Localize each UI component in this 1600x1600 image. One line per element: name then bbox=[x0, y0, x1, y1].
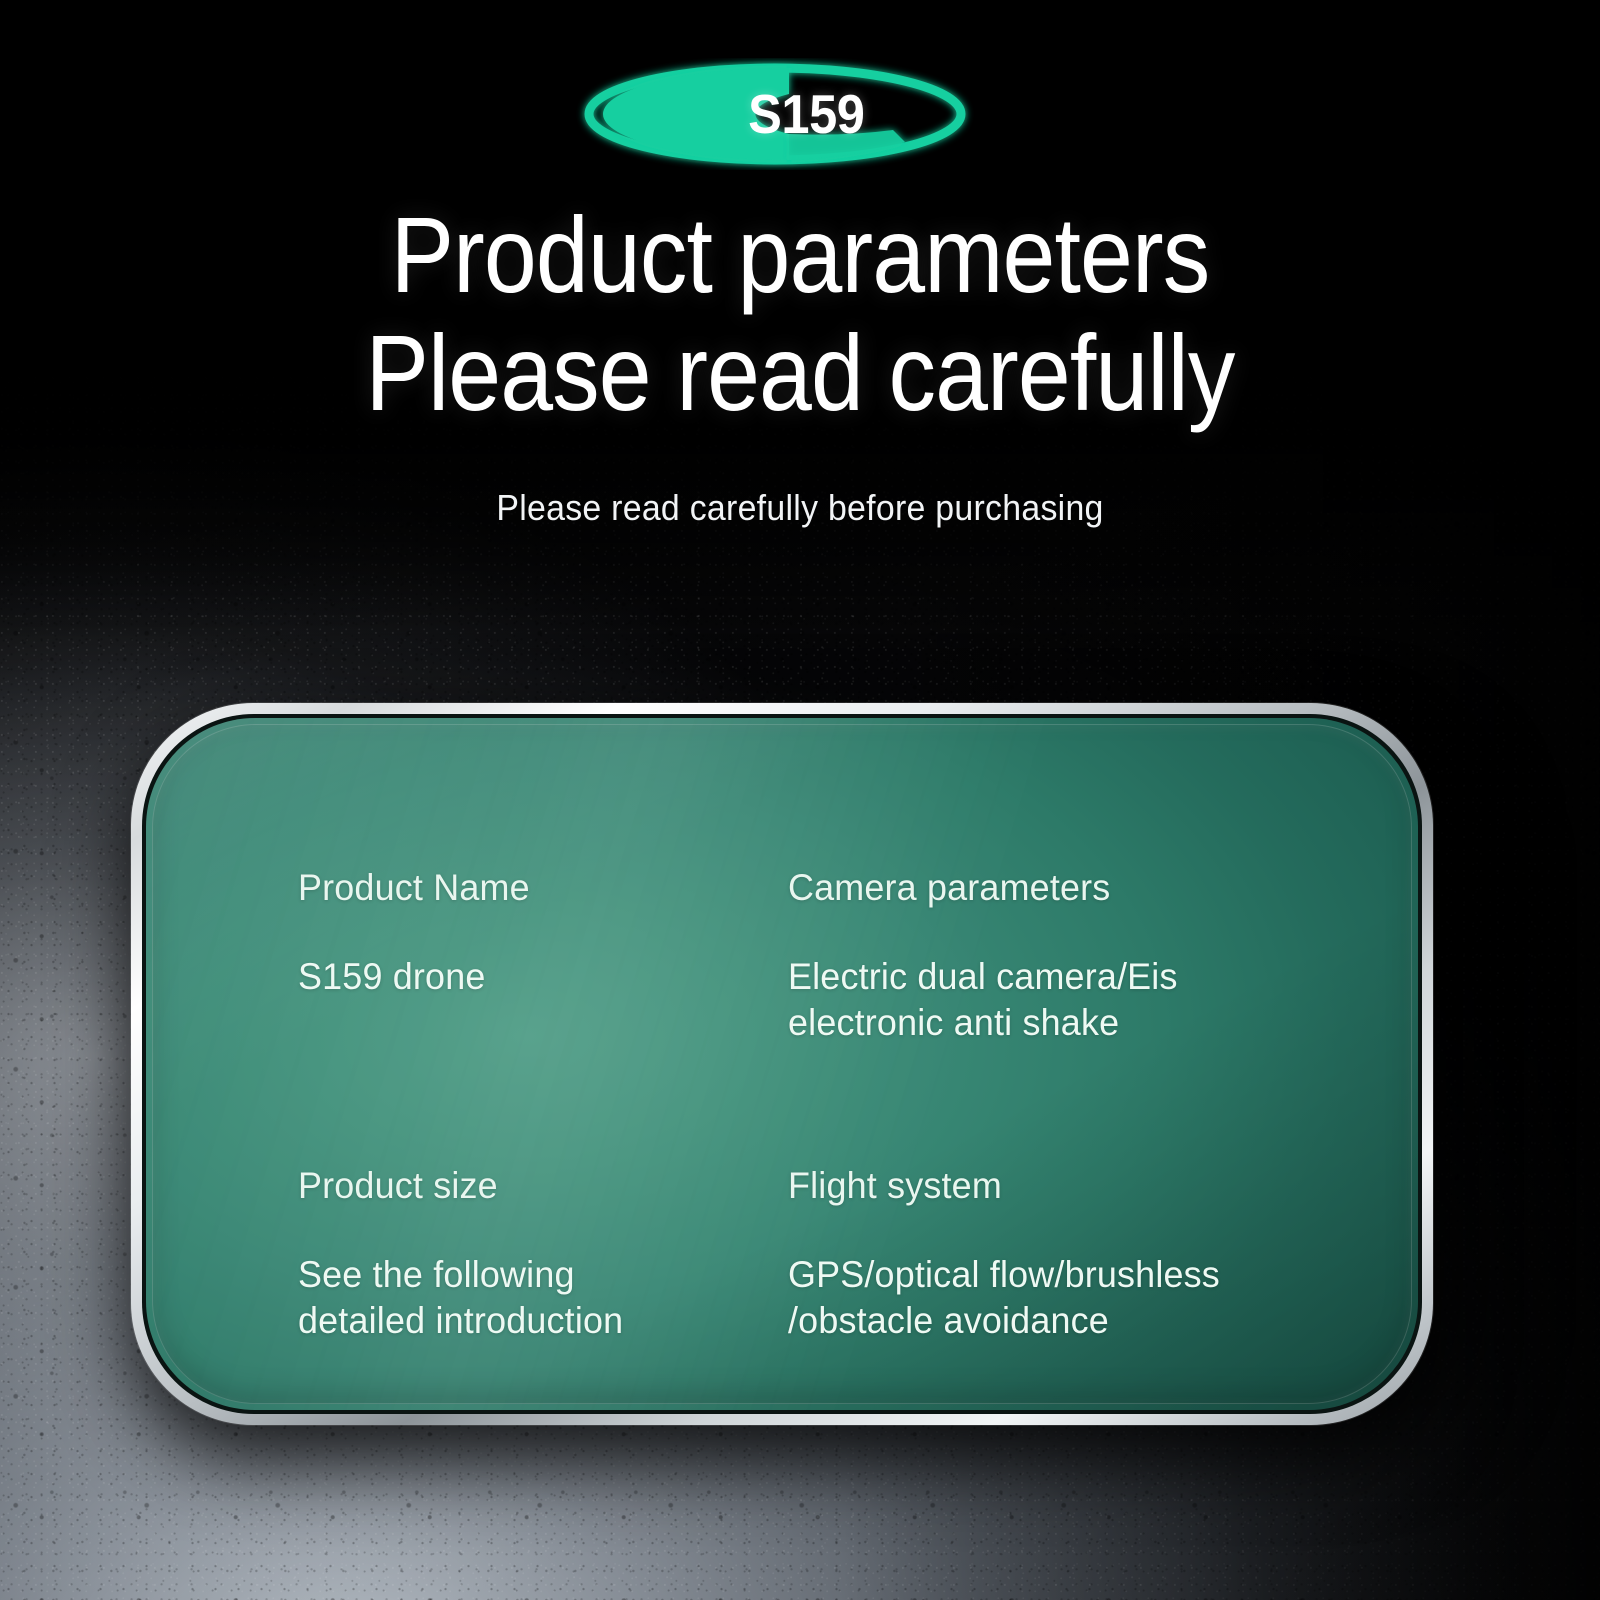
logo-wordmark: S159 bbox=[591, 58, 959, 170]
page-subtitle: Please read carefully before purchasing bbox=[48, 487, 1552, 529]
spec-value: See the following detailed introduction bbox=[298, 1252, 773, 1344]
spec-value: GPS/optical flow/brushless /obstacle avo… bbox=[788, 1252, 1283, 1344]
spec-label: Camera parameters bbox=[788, 866, 1283, 910]
spec-cell-flight-system: Flight system GPS/optical flow/brushless… bbox=[788, 1164, 1298, 1344]
spec-label: Flight system bbox=[788, 1164, 1283, 1208]
spec-label: Product Name bbox=[298, 866, 773, 910]
spec-cell-product-name: Product Name S159 drone bbox=[298, 866, 788, 1046]
product-parameters-page: S159 Product parameters Please read care… bbox=[0, 0, 1600, 1600]
spec-cell-camera-parameters: Camera parameters Electric dual camera/E… bbox=[788, 866, 1298, 1046]
spec-cell-product-size: Product size See the following detailed … bbox=[298, 1164, 788, 1344]
spec-card: Product Name S159 drone Camera parameter… bbox=[131, 703, 1433, 1425]
page-title: Product parameters Please read carefully bbox=[0, 196, 1600, 432]
brand-logo: S159 bbox=[575, 58, 975, 170]
page-title-line-1: Product parameters bbox=[96, 196, 1504, 314]
spec-label: Product size bbox=[298, 1164, 773, 1208]
spec-card-panel: Product Name S159 drone Camera parameter… bbox=[146, 718, 1418, 1410]
page-title-line-2: Please read carefully bbox=[96, 314, 1504, 432]
spec-value: S159 drone bbox=[298, 954, 773, 1000]
spec-table: Product Name S159 drone Camera parameter… bbox=[298, 866, 1298, 1344]
spec-value: Electric dual camera/Eis electronic anti… bbox=[788, 954, 1283, 1046]
